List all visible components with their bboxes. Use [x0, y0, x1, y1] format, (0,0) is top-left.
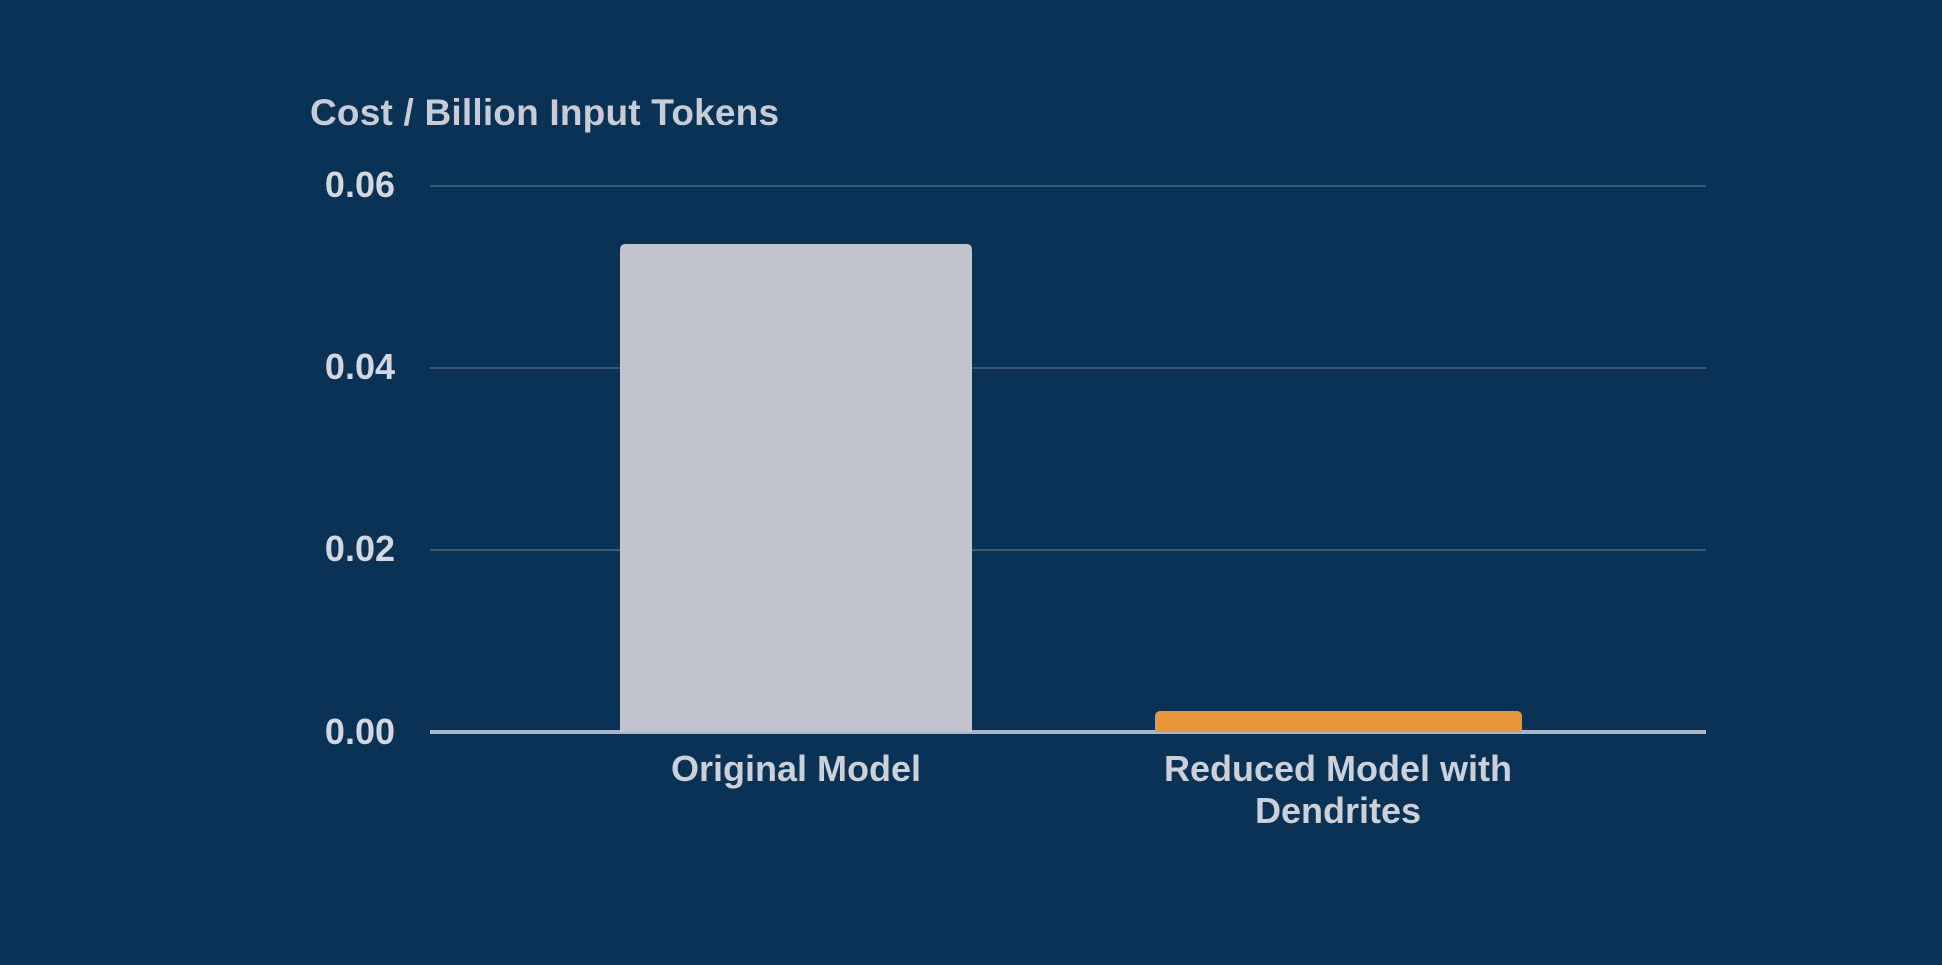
chart-title: Cost / Billion Input Tokens: [310, 92, 779, 134]
plot-area: [430, 185, 1706, 732]
x-axis-tick-label-reduced-model: Reduced Model with Dendrites: [1078, 748, 1598, 833]
y-axis-tick-label-0: 0.06: [325, 164, 395, 206]
bar-reduced-model-with-dendrites[interactable]: [1155, 711, 1522, 732]
y-axis-tick-label-2: 0.02: [325, 528, 395, 570]
x-axis-tick-label-original-model-line1: Original Model: [566, 748, 1026, 790]
y-axis-tick-label-1: 0.04: [325, 346, 395, 388]
bar-chart: Cost / Billion Input Tokens 0.06 0.04 0.…: [0, 0, 1942, 965]
y-axis-tick-label-3: 0.00: [325, 711, 395, 753]
gridline-0.06: [430, 185, 1706, 187]
x-axis-tick-label-reduced-model-line1: Reduced Model with: [1078, 748, 1598, 790]
x-axis-tick-label-reduced-model-line2: Dendrites: [1078, 790, 1598, 832]
x-axis-tick-label-original-model: Original Model: [566, 748, 1026, 790]
bar-original-model[interactable]: [620, 244, 972, 732]
